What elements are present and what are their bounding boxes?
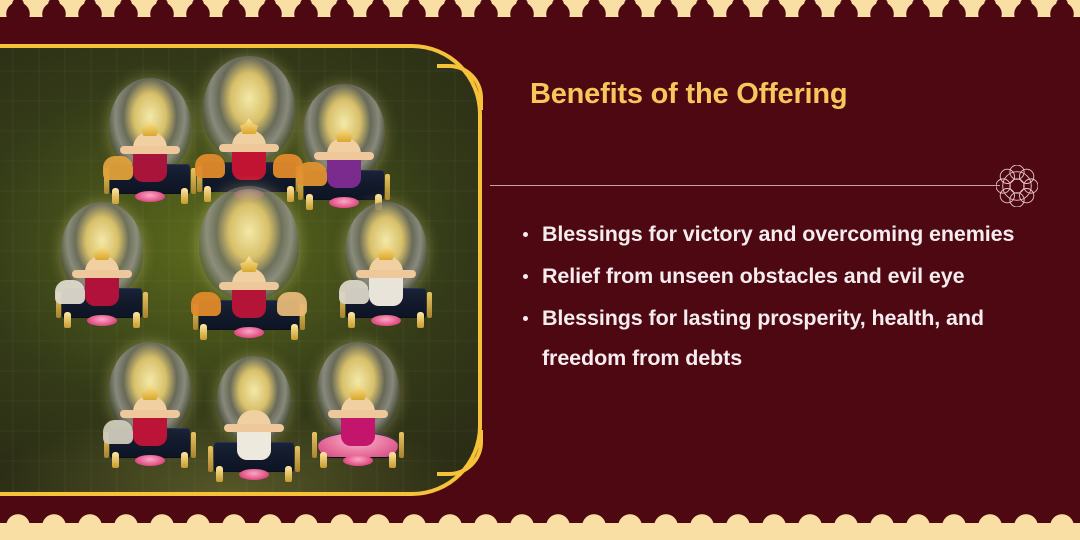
deity-body [133,132,167,182]
vahana-lion-icon [297,162,327,186]
deity-figure [206,354,302,484]
oil-lamp-icon [200,324,207,340]
divider [490,170,1046,202]
deity-body [327,138,361,188]
oil-lamp-icon [133,312,140,328]
oil-lamp-icon [285,466,292,482]
oil-lamp-icon [291,324,298,340]
oil-lamp-icon [417,312,424,328]
list-item: Blessings for lasting prosperity, health… [516,298,1016,378]
benefits-list: Blessings for victory and overcoming ene… [516,214,1016,380]
oil-lamp-icon [181,188,188,204]
vahana-tiger-icon [191,292,221,316]
deity-body [341,396,375,446]
top-decorative-border [0,0,1080,32]
vahana-bull-icon [339,280,369,304]
deity-figure [102,76,198,206]
deity-figure [54,200,150,330]
lotus-seat [239,469,269,480]
deity-image-panel [0,44,482,496]
deity-body [133,396,167,446]
deity-figure [102,340,198,470]
oil-lamp-icon [348,312,355,328]
page-title: Benefits of the Offering [530,78,847,111]
lotus-seat [343,455,373,466]
deity-figure [338,200,434,330]
oil-lamp-icon [320,452,327,468]
lotus-seat [371,315,401,326]
vahana-tiger-icon [195,154,225,178]
temple-dome-motif [0,508,1080,540]
deity-body [369,256,403,306]
deity-body [232,130,266,180]
vahana-donkey-icon [103,420,133,444]
deity-figure [194,54,304,204]
bottom-decorative-border [0,508,1080,540]
vahana-tiger-icon [277,292,307,316]
deity-body [237,410,271,460]
lotus-seat [135,455,165,466]
list-item: Relief from unseen obstacles and evil ey… [516,256,1016,296]
deity-figure [296,82,392,212]
deity-body [232,268,266,318]
oil-lamp-icon [112,452,119,468]
oil-lamp-icon [389,452,396,468]
mandala-ornament [996,165,1038,207]
deity-body [85,256,119,306]
vahana-icon [103,156,133,180]
oil-lamp-icon [64,312,71,328]
oil-lamp-icon [181,452,188,468]
content-column: Benefits of the Offering Ble [490,44,1050,496]
temple-dome-motif [0,0,1080,32]
navadurga-group [42,58,442,496]
oil-lamp-icon [216,466,223,482]
list-item: Blessings for victory and overcoming ene… [516,214,1016,254]
vahana-icon [55,280,85,304]
lotus-seat [87,315,117,326]
deity-figure [310,340,406,470]
lotus-seat [234,327,264,338]
image-gold-frame [0,44,482,496]
slide-root: Benefits of the Offering Ble [0,0,1080,540]
deity-figure [190,184,308,342]
divider-line [490,185,1000,186]
